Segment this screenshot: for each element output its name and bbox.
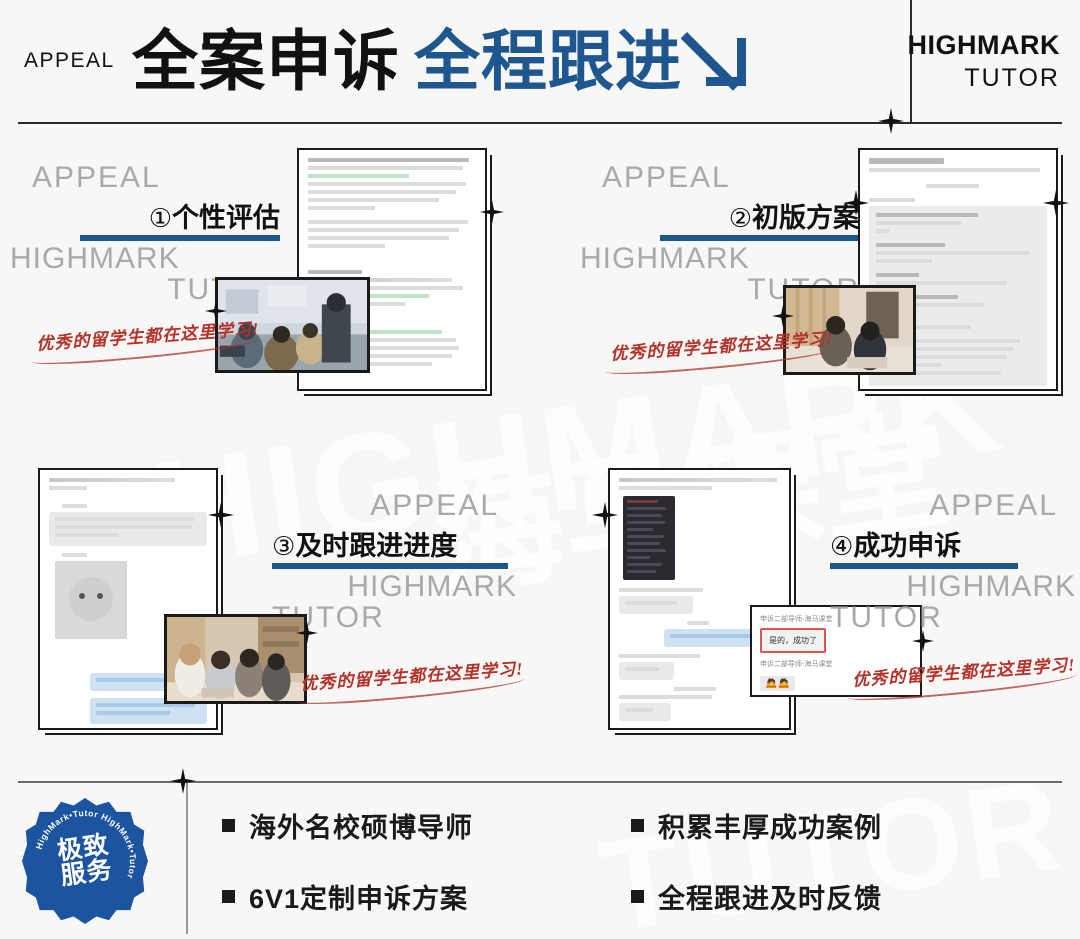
feature-label: 积累丰厚成功案例: [658, 806, 882, 845]
step-card-4: 申诉二部导师-海马课堂 是的，成功了 申诉二部导师-海马课堂 🙇🙇 APPEAL…: [540, 450, 1080, 750]
service-badge: HighMark•Tutor HighMark•Tutor 极致 服务: [22, 798, 148, 924]
feature-item: 全程跟进及时反馈: [631, 877, 882, 916]
step-4-watermark-highmark: HIGHMARK: [830, 571, 1080, 603]
sparkle-icon: [296, 622, 318, 644]
step-4-chat-highlight: 是的，成功了: [760, 628, 826, 653]
step-card-2: APPEAL ②初版方案 HIGHMARK TUTOR: [540, 140, 1080, 450]
step-1-watermark-highmark: HIGHMARK: [10, 243, 280, 275]
step-1-number: ①: [149, 203, 172, 233]
sparkle-icon: [772, 305, 794, 327]
bullet-square-icon: [631, 890, 644, 903]
step-3-number: ③: [272, 531, 295, 561]
sparkle-icon: [208, 502, 234, 528]
feature-columns: 海外名校硕博导师 6V1定制申诉方案 积累丰厚成功案例 全程跟进及时反馈: [222, 806, 882, 916]
sparkle-icon: [170, 768, 196, 794]
step-3-title: ③及时跟进进度: [272, 524, 457, 566]
step-2-title-underline: [660, 235, 860, 241]
sparkle-icon: [843, 190, 869, 216]
step-card-3: APPEAL ③及时跟进进度 HIGHMARK TUTOR: [0, 450, 540, 750]
brand-block: HIGHMARK TUTOR: [910, 0, 1080, 122]
step-3-watermark-appeal: APPEAL: [272, 490, 527, 522]
page-header: APPEAL 全案申诉 全程跟进 HIGHMARK TUTOR: [0, 0, 1080, 122]
feature-label: 全程跟进及时反馈: [658, 877, 882, 916]
step-1-title-underline: [80, 235, 280, 241]
header-divider: [18, 122, 1062, 124]
step-3-headline: APPEAL ③及时跟进进度 HIGHMARK TUTOR: [272, 490, 527, 634]
feature-item: 6V1定制申诉方案: [222, 877, 473, 916]
steps-grid: APPEAL ①个性评估 HIGHMARK TUTOR: [0, 140, 1080, 750]
step-1-title: ①个性评估: [149, 196, 280, 238]
bullet-square-icon: [631, 819, 644, 832]
sparkle-icon: [912, 630, 934, 652]
arrow-down-right-icon: [684, 30, 746, 92]
step-3-title-underline: [272, 563, 508, 569]
cat-photo-thumbnail: [55, 561, 127, 639]
bullet-square-icon: [222, 819, 235, 832]
step-2-headline: APPEAL ②初版方案 HIGHMARK TUTOR: [580, 162, 860, 306]
step-2-number: ②: [729, 203, 752, 233]
step-2-watermark-highmark: HIGHMARK: [580, 243, 860, 275]
step-4-watermark-appeal: APPEAL: [830, 490, 1080, 522]
feature-item: 海外名校硕博导师: [222, 806, 473, 845]
bullet-square-icon: [222, 890, 235, 903]
sparkle-icon: [592, 502, 618, 528]
feature-label: 海外名校硕博导师: [249, 806, 473, 845]
sparkle-icon: [878, 108, 904, 134]
dark-screenshot-thumbnail: [623, 496, 675, 580]
feature-column-right: 积累丰厚成功案例 全程跟进及时反馈: [631, 806, 882, 916]
step-2-watermark-appeal: APPEAL: [580, 162, 860, 194]
feature-column-left: 海外名校硕博导师 6V1定制申诉方案: [222, 806, 473, 916]
brand-name: HIGHMARK: [908, 30, 1061, 61]
step-4-number: ④: [830, 531, 853, 561]
step-card-1: APPEAL ①个性评估 HIGHMARK TUTOR: [0, 140, 540, 450]
step-3-watermark-highmark: HIGHMARK: [272, 571, 527, 603]
step-4-title: ④成功申诉: [830, 524, 961, 566]
badge-center-line2: 服务: [59, 857, 114, 889]
page-title-blue: 全程跟进: [414, 28, 682, 94]
sparkle-icon: [480, 200, 504, 224]
page-title-black: 全案申诉: [132, 28, 400, 94]
step-1-watermark-appeal: APPEAL: [10, 162, 280, 194]
badge-center-text: 极致 服务: [14, 790, 156, 932]
sparkle-icon: [1043, 190, 1069, 216]
step-2-title: ②初版方案: [729, 196, 860, 238]
step-4-headline: APPEAL ④成功申诉 HIGHMARK TUTOR: [830, 490, 1080, 634]
step-4-title-text: 成功申诉: [853, 531, 961, 561]
page-title: 全案申诉 全程跟进: [124, 28, 910, 94]
step-4-title-underline: [830, 563, 1018, 569]
step-4-chat-emoji: 🙇🙇: [760, 676, 795, 691]
feature-label: 6V1定制申诉方案: [249, 877, 468, 916]
step-1-title-text: 个性评估: [172, 203, 280, 233]
brand-subname: TUTOR: [964, 64, 1060, 93]
header-appeal-label: APPEAL: [24, 49, 124, 73]
step-3-photo: [164, 614, 307, 704]
feature-item: 积累丰厚成功案例: [631, 806, 882, 845]
step-3-slogan: 优秀的留学生都在这里学习!: [299, 654, 524, 695]
page-footer: HighMark•Tutor HighMark•Tutor 极致 服务 海外名校…: [0, 783, 1080, 939]
step-4-watermark-tutor: TUTOR: [830, 602, 1080, 634]
step-3-title-text: 及时跟进进度: [295, 531, 457, 561]
